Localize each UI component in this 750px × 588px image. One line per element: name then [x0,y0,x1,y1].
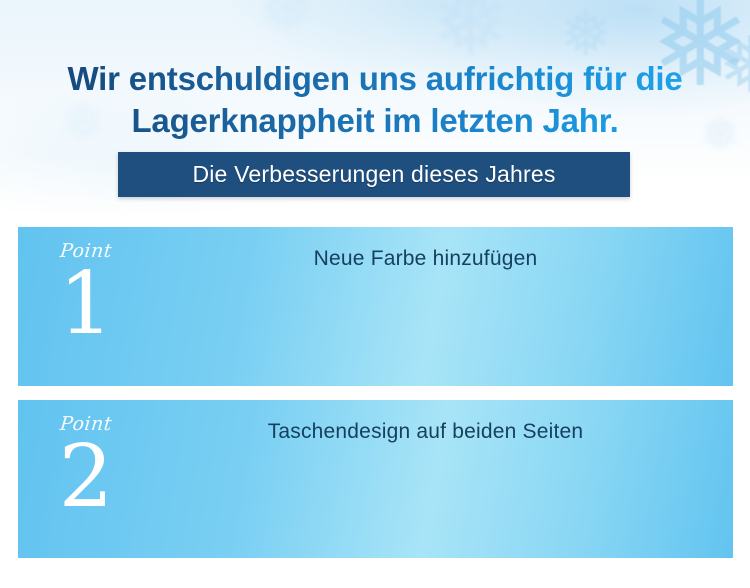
point-badge-1: Point 1 [38,241,134,346]
promo-banner-page: ❅ ❅ ❅ ❅ ❅ ❅ ❅ Wir entschuldigen uns aufr… [0,0,750,588]
point-number: 2 [38,437,134,519]
section-banner: Die Verbesserungen dieses Jahres [118,152,630,197]
point-heading-2: Taschendesign auf beiden Seiten [138,420,713,444]
point-badge-2: Point 2 [38,414,134,519]
section-banner-label: Die Verbesserungen dieses Jahres [192,161,555,188]
point-number: 1 [38,264,134,346]
page-title: Wir entschuldigen uns aufrichtig für die… [0,58,750,142]
point-label: Point [37,241,135,262]
snowflake-icon: ❅ [560,4,612,66]
point-card-1: Point 1 Neue Farbe hinzufügen Zwei neue … [18,227,733,386]
point-heading-1: Neue Farbe hinzufügen [138,247,713,271]
point-card-2: Point 2 Taschendesign auf beiden Seiten … [18,400,733,558]
snowflake-icon: ❅ [258,0,317,44]
point-label: Point [37,414,135,435]
